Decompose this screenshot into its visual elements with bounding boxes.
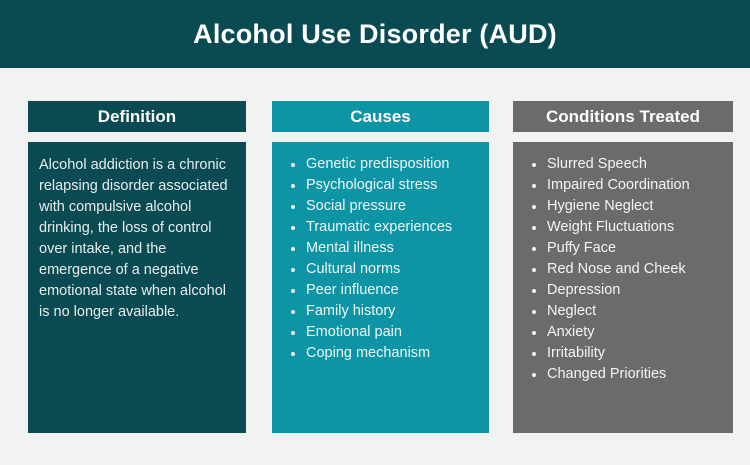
- column-conditions-treated: Conditions Treated Slurred Speech Impair…: [513, 101, 733, 433]
- infographic-root: Alcohol Use Disorder (AUD) Definition Al…: [0, 0, 750, 465]
- column-header-label-definition: Definition: [98, 108, 176, 125]
- list-item: Puffy Face: [531, 238, 725, 259]
- list-item: Traumatic experiences: [290, 217, 481, 238]
- column-definition: Definition Alcohol addiction is a chroni…: [28, 101, 246, 433]
- list-item: Changed Priorities: [531, 364, 725, 385]
- list-item: Irritability: [531, 343, 725, 364]
- list-item: Psychological stress: [290, 175, 481, 196]
- list-item: Cultural norms: [290, 259, 481, 280]
- causes-list: Genetic predisposition Psychological str…: [272, 142, 489, 364]
- list-item: Emotional pain: [290, 322, 481, 343]
- column-body-causes: Genetic predisposition Psychological str…: [272, 142, 489, 433]
- list-item: Coping mechanism: [290, 343, 481, 364]
- list-item: Genetic predisposition: [290, 154, 481, 175]
- list-item: Neglect: [531, 301, 725, 322]
- list-item: Hygiene Neglect: [531, 196, 725, 217]
- page-title: Alcohol Use Disorder (AUD): [193, 21, 557, 48]
- column-header-conditions: Conditions Treated: [513, 101, 733, 132]
- list-item: Weight Fluctuations: [531, 217, 725, 238]
- column-body-conditions: Slurred Speech Impaired Coordination Hyg…: [513, 142, 733, 433]
- list-item: Social pressure: [290, 196, 481, 217]
- list-item: Red Nose and Cheek: [531, 259, 725, 280]
- column-header-label-causes: Causes: [350, 108, 410, 125]
- conditions-list: Slurred Speech Impaired Coordination Hyg…: [513, 142, 733, 385]
- list-item: Slurred Speech: [531, 154, 725, 175]
- title-bar: Alcohol Use Disorder (AUD): [0, 0, 750, 68]
- column-header-label-conditions: Conditions Treated: [546, 108, 700, 125]
- list-item: Depression: [531, 280, 725, 301]
- definition-paragraph: Alcohol addiction is a chronic relapsing…: [28, 142, 246, 323]
- column-header-definition: Definition: [28, 101, 246, 132]
- column-causes: Causes Genetic predisposition Psychologi…: [272, 101, 489, 433]
- list-item: Impaired Coordination: [531, 175, 725, 196]
- column-body-definition: Alcohol addiction is a chronic relapsing…: [28, 142, 246, 433]
- list-item: Peer influence: [290, 280, 481, 301]
- column-header-causes: Causes: [272, 101, 489, 132]
- list-item: Anxiety: [531, 322, 725, 343]
- list-item: Family history: [290, 301, 481, 322]
- list-item: Mental illness: [290, 238, 481, 259]
